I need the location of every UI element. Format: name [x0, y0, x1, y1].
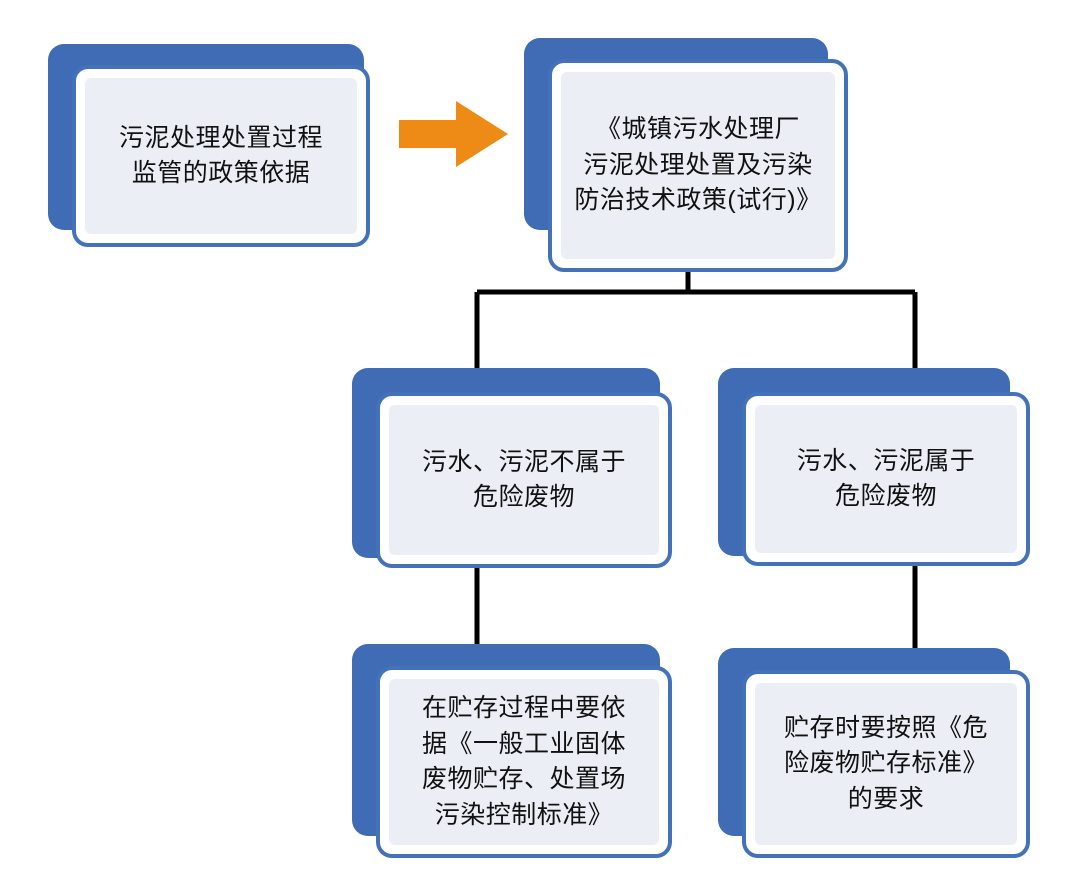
- node-storage-general[interactable]: 在贮存过程中要依 据《一般工业固体 废物贮存、处置场 污染控制标准》: [352, 644, 660, 836]
- orange-right-arrow-icon: [399, 101, 508, 167]
- node-face: 《城镇污水处理厂 污泥处理处置及污染 防治技术政策(试行)》: [548, 59, 848, 272]
- node-inner-fill: 污泥处理处置过程 监管的政策依据: [85, 78, 357, 234]
- node-label: 污泥处理处置过程 监管的政策依据: [119, 121, 323, 192]
- node-label: 在贮存过程中要依 据《一般工业固体 废物贮存、处置场 污染控制标准》: [422, 691, 626, 833]
- node-face: 贮存时要按照《危 险废物贮存标准》 的要求: [742, 670, 1030, 858]
- node-storage-hazardous[interactable]: 贮存时要按照《危 险废物贮存标准》 的要求: [718, 648, 1010, 836]
- node-face: 污水、污泥不属于 危险废物: [376, 392, 672, 568]
- node-hazardous[interactable]: 污水、污泥属于 危险废物: [718, 368, 1010, 556]
- node-non-hazardous[interactable]: 污水、污泥不属于 危险废物: [352, 368, 660, 558]
- node-label: 污水、污泥不属于 危险废物: [422, 445, 626, 516]
- node-policy-basis[interactable]: 污泥处理处置过程 监管的政策依据: [48, 44, 364, 230]
- node-face: 在贮存过程中要依 据《一般工业固体 废物贮存、处置场 污染控制标准》: [376, 666, 672, 858]
- node-inner-fill: 在贮存过程中要依 据《一般工业固体 废物贮存、处置场 污染控制标准》: [389, 679, 659, 845]
- node-inner-fill: 污水、污泥属于 危险废物: [755, 405, 1017, 553]
- flowchart-canvas: 污泥处理处置过程 监管的政策依据 《城镇污水处理厂 污泥处理处置及污染 防治技术…: [0, 0, 1080, 892]
- node-inner-fill: 贮存时要按照《危 险废物贮存标准》 的要求: [755, 683, 1017, 845]
- node-policy-document[interactable]: 《城镇污水处理厂 污泥处理处置及污染 防治技术政策(试行)》: [524, 38, 828, 230]
- node-face: 污泥处理处置过程 监管的政策依据: [72, 65, 370, 247]
- node-face: 污水、污泥属于 危险废物: [742, 392, 1030, 566]
- node-label: 贮存时要按照《危 险废物贮存标准》 的要求: [784, 711, 988, 818]
- node-inner-fill: 《城镇污水处理厂 污泥处理处置及污染 防治技术政策(试行)》: [561, 72, 835, 259]
- node-label: 《城镇污水处理厂 污泥处理处置及污染 防治技术政策(试行)》: [574, 112, 821, 219]
- node-label: 污水、污泥属于 危险废物: [797, 444, 976, 515]
- node-inner-fill: 污水、污泥不属于 危险废物: [389, 405, 659, 555]
